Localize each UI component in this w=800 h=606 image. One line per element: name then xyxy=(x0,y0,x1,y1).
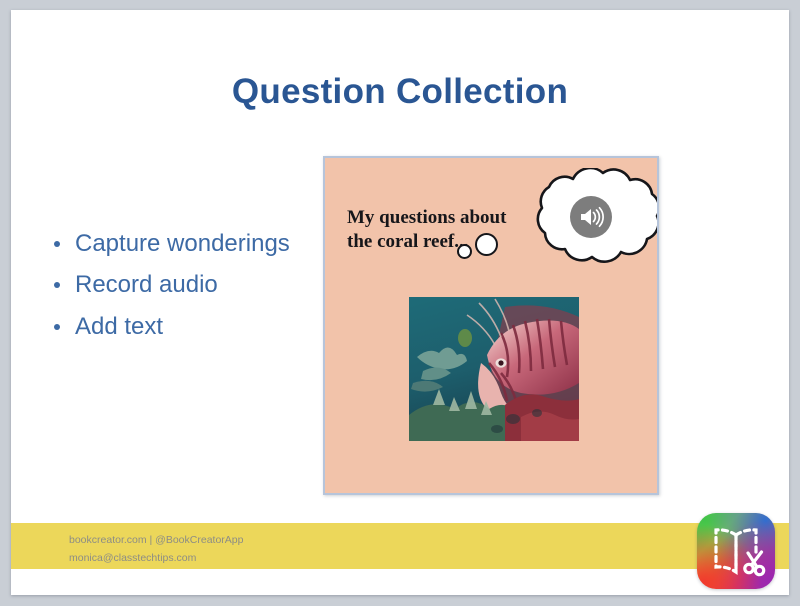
list-item-label: Capture wonderings xyxy=(75,230,290,257)
footer-contact-info: bookcreator.com | @BookCreatorApp monica… xyxy=(69,531,243,568)
thought-bubble-trail-large-icon xyxy=(475,233,498,256)
thought-bubble-trail-small-icon xyxy=(457,244,472,259)
artwork-panel: My questions about the coral reef... xyxy=(323,156,659,495)
footer-line-website: bookcreator.com | @BookCreatorApp xyxy=(69,531,243,549)
footer-line-email: monica@classtechtips.com xyxy=(69,549,243,567)
presentation-canvas: Question Collection Capture wonderings R… xyxy=(0,0,800,606)
list-item: Capture wonderings xyxy=(47,228,297,260)
list-item-label: Add text xyxy=(75,313,163,340)
coral-reef-photo xyxy=(409,297,579,441)
speaker-volume-icon[interactable] xyxy=(570,196,612,238)
bullet-list: Capture wonderings Record audio Add text xyxy=(47,228,297,352)
bullet-dot-icon xyxy=(54,282,60,288)
bullet-dot-icon xyxy=(54,241,60,247)
book-creator-logo xyxy=(697,513,775,589)
list-item: Add text xyxy=(47,311,297,343)
bullet-dot-icon xyxy=(54,324,60,330)
slide: Question Collection Capture wonderings R… xyxy=(11,10,789,595)
page-title: Question Collection xyxy=(11,72,789,112)
list-item: Record audio xyxy=(47,269,297,301)
list-item-label: Record audio xyxy=(75,271,218,298)
